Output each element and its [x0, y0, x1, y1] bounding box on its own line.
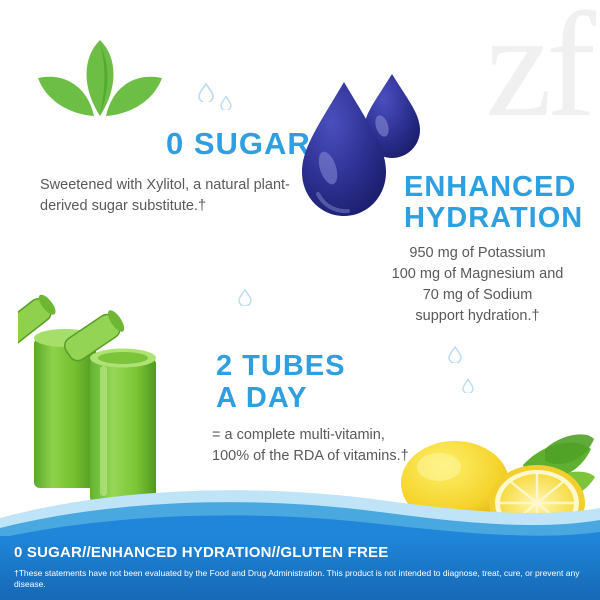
- leaf-icon: [22, 30, 182, 140]
- footer-bar: 0 SUGAR//ENHANCED HYDRATION//GLUTEN FREE…: [0, 536, 600, 600]
- tubes-icon: [18, 280, 203, 510]
- droplet-icon: [448, 345, 462, 368]
- feature-heading-two-tubes: 2 TUBES A DAY: [216, 350, 345, 414]
- droplet-icon: [220, 95, 232, 115]
- feature-heading-zero-sugar: 0 SUGAR: [166, 128, 311, 160]
- feature-body-zero-sugar: Sweetened with Xylitol, a natural plant-…: [40, 175, 310, 217]
- footer-disclaimer: †These statements have not been evaluate…: [14, 568, 589, 590]
- heading-line-1: 2 TUBES: [216, 350, 345, 382]
- body-line-1: 950 mg of Potassium: [370, 243, 585, 264]
- watermark-logo: zf: [485, 0, 590, 140]
- body-line-4: support hydration.†: [370, 306, 585, 327]
- heading-line-1: ENHANCED: [404, 172, 583, 203]
- infographic-canvas: zf 0 SUGAR Sweetened with Xylitol, a nat…: [0, 0, 600, 600]
- droplet-icon: [198, 82, 214, 107]
- feature-heading-enhanced-hydration: ENHANCED HYDRATION: [404, 172, 583, 234]
- body-line-2: 100 mg of Magnesium and: [370, 264, 585, 285]
- droplet-icon: [462, 378, 474, 398]
- droplet-icon: [238, 288, 252, 311]
- body-line-3: 70 mg of Sodium: [370, 285, 585, 306]
- footer-title: 0 SUGAR//ENHANCED HYDRATION//GLUTEN FREE: [14, 544, 388, 561]
- heading-line-2: HYDRATION: [404, 203, 583, 234]
- heading-line-2: A DAY: [216, 382, 345, 414]
- feature-body-enhanced-hydration: 950 mg of Potassium 100 mg of Magnesium …: [370, 243, 585, 327]
